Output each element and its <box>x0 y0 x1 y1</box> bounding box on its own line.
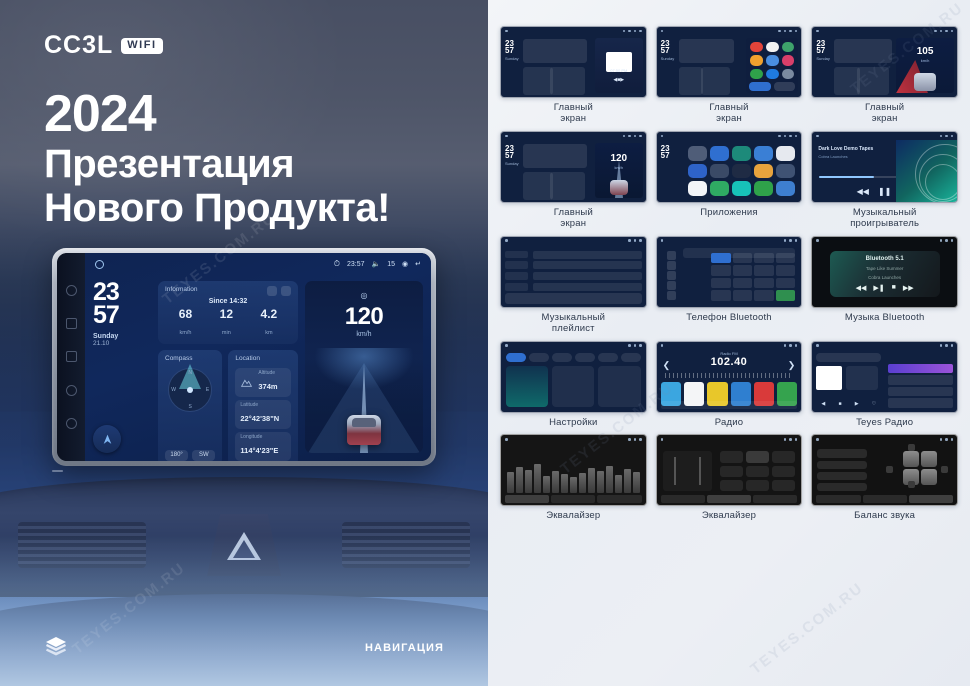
altitude-value: 374m <box>258 382 277 391</box>
compass-label-w: W <box>171 387 176 393</box>
speed-value: 120 <box>305 303 423 331</box>
gallery-item[interactable]: Radio FM 102.40 ❮ ❯ Радио <box>656 341 803 429</box>
gallery-caption: Настройки <box>549 418 597 429</box>
compass-dial: N S W E <box>168 368 212 412</box>
gallery-caption: Главныйэкран <box>554 208 593 230</box>
clock-widget: 23 57 Sunday 21.10 <box>93 281 151 453</box>
stat-value: 68 <box>179 308 192 321</box>
gallery-item[interactable]: Телефон Bluetooth <box>656 236 803 335</box>
bt-subtitle: Tape Like Summer <box>866 266 904 271</box>
mountain-icon <box>240 376 253 389</box>
gallery-caption: Баланс звука <box>854 511 915 522</box>
information-card[interactable]: Information Since 14:32 68 <box>158 281 298 344</box>
navigation-arrow-icon <box>101 433 114 446</box>
apps-grid[interactable] <box>686 144 797 198</box>
stat-unit: km <box>265 330 272 336</box>
layers-icon[interactable] <box>44 635 68 662</box>
equalizer-sliders[interactable] <box>507 449 640 493</box>
clock-date: 21.10 <box>93 340 151 347</box>
headline-line-2: Нового Продукта! <box>44 186 390 230</box>
location-card[interactable]: Location Altitude 374m <box>228 350 298 461</box>
gallery-caption: Teyes Радио <box>856 418 913 429</box>
headline-line-1: Презентация <box>44 142 390 186</box>
compass-label-s: S <box>189 404 192 410</box>
thumbnail-bluetooth-phone[interactable] <box>656 236 803 308</box>
speedometer-icon: ◎ <box>361 291 368 300</box>
compass-title: Compass <box>165 355 215 362</box>
refresh-icon[interactable] <box>281 286 291 296</box>
thumbnail-settings[interactable] <box>500 341 647 413</box>
stat-unit: km/h <box>179 330 191 336</box>
player-track-title: Dark Love Demo Tapes <box>818 146 890 152</box>
gallery-item[interactable]: Баланс звука <box>811 434 958 522</box>
stat-distance: 4.2 km <box>261 308 278 339</box>
compass-heading-cone <box>179 364 201 389</box>
compass-label-n: N <box>188 370 192 376</box>
product-logo: CC3L WIFI <box>44 31 163 60</box>
speed-unit: km/h <box>305 331 423 338</box>
head-unit-screen[interactable]: ⏱ 23:57 🔈 15 ◉ ↵ 23 57 Sunday <box>85 253 431 461</box>
gallery-caption: Главныйэкран <box>554 103 593 125</box>
compass-heading-value: 180° <box>165 450 188 461</box>
location-title: Location <box>235 355 291 362</box>
gallery-caption: Эквалайзер <box>546 511 600 522</box>
gallery-item[interactable]: Dark Love Demo Tapes Cobra Launches ◀◀❚❚… <box>811 131 958 230</box>
thumbnail-radio[interactable]: Radio FM 102.40 ❮ ❯ <box>656 341 803 413</box>
thumbnail-home-speed[interactable]: 2357Sunday 120 km/h <box>500 131 647 203</box>
location-longitude-row: Longitude 114°4'23"E <box>235 432 291 461</box>
thumbnail-home-apps[interactable]: 2357Sunday <box>656 26 803 98</box>
headline-year: 2024 <box>44 88 390 142</box>
gallery-grid: 2357Sunday 07:50 PM ◀■▶ Главныйэкран 235… <box>500 26 958 522</box>
radio-next-icon[interactable]: ❯ <box>788 360 796 371</box>
thumb-speed-value: 105 <box>896 46 954 57</box>
trip-stats: 68 km/h 12 min 4.2 km <box>165 308 291 339</box>
gallery-caption: Главныйэкран <box>865 103 904 125</box>
home-button-icon[interactable] <box>66 318 77 329</box>
thumbnail-apps[interactable]: 2357 <box>656 131 803 203</box>
latitude-label: Latitude <box>240 402 286 408</box>
bt-title: Bluetooth 5.1 <box>866 256 904 262</box>
camera-icon[interactable]: ◉ <box>402 260 408 268</box>
gallery-item[interactable]: 2357Sunday 07:50 PM ◀■▶ Главныйэкран <box>500 26 647 125</box>
compass-direction-value: SW <box>192 450 215 461</box>
road-graphic <box>305 348 423 453</box>
device-side-buttons[interactable] <box>57 253 85 461</box>
headline-block: 2024 Презентация Нового Продукта! <box>44 88 390 230</box>
compass-label-e: E <box>206 387 209 393</box>
compass-center-dot <box>187 387 193 393</box>
gallery-caption: Приложения <box>700 208 758 219</box>
compass-card[interactable]: Compass N S W E <box>158 350 222 461</box>
volume-down-button-icon[interactable] <box>66 385 77 396</box>
status-bar: ⏱ 23:57 🔈 15 ◉ ↵ <box>85 253 431 275</box>
home-icon[interactable] <box>95 260 104 269</box>
clock-minutes: 57 <box>93 304 151 327</box>
logo-wifi-badge: WIFI <box>121 38 162 54</box>
music-visualizer <box>896 140 957 202</box>
thumbnail-home-drive[interactable]: 2357Sunday 105 km/h <box>811 26 958 98</box>
thumbnail-bluetooth-music[interactable]: Bluetooth 5.1 Tape Like Summer Cobra Lau… <box>811 236 958 308</box>
longitude-label: Longitude <box>240 434 286 440</box>
gallery-caption: Радио <box>715 418 743 429</box>
thumbnail-equalizer-bars[interactable] <box>500 434 647 506</box>
wifi-icon: ⏱ <box>334 259 340 269</box>
thumbnail-teyes-radio[interactable]: ◀■▶♡ <box>811 341 958 413</box>
balance-pad[interactable] <box>903 451 937 485</box>
altitude-label: Altitude <box>258 370 277 376</box>
gallery-caption: Музыкальныйплейлист <box>541 313 605 335</box>
driving-view-card[interactable]: ◎ 120 km/h <box>305 281 423 453</box>
power-button-icon[interactable] <box>66 285 77 296</box>
stat-value: 4.2 <box>261 308 278 321</box>
gallery-item[interactable]: Эквалайзер <box>656 434 803 522</box>
status-time: 23:57 <box>347 261 365 268</box>
stat-value: 12 <box>220 308 233 321</box>
trip-since-label: Since 14:32 <box>165 298 291 305</box>
car-icon <box>347 415 381 445</box>
gallery-item[interactable]: 2357 Приложения <box>656 131 803 230</box>
stat-avg-speed: 68 km/h <box>179 308 192 339</box>
clock-day: Sunday <box>93 333 151 340</box>
logo-model-text: CC3L <box>44 31 113 60</box>
volume-level: 15 <box>387 261 395 268</box>
head-unit-device: ⏱ 23:57 🔈 15 ◉ ↵ 23 57 Sunday <box>52 248 436 466</box>
thumbnail-sound-balance[interactable] <box>811 434 958 506</box>
thumbnail-music-player[interactable]: Dark Love Demo Tapes Cobra Launches ◀◀❚❚… <box>811 131 958 203</box>
stat-unit: min <box>222 330 231 336</box>
longitude-value: 114°4'23"E <box>240 446 278 455</box>
location-altitude-row: Altitude 374m <box>235 368 291 397</box>
information-title: Information <box>165 286 198 293</box>
gallery-item[interactable]: Музыкальныйплейлист <box>500 236 647 335</box>
navigation-fab-button[interactable] <box>93 425 121 453</box>
thumbnail-music-playlist[interactable] <box>500 236 647 308</box>
bt-subtitle-2: Cobra Launches <box>868 275 901 280</box>
gallery-item[interactable]: Bluetooth 5.1 Tape Like Summer Cobra Lau… <box>811 236 958 335</box>
presentation-slide: CC3L WIFI 2024 Презентация Нового Продук… <box>0 0 970 686</box>
gallery-caption: Музыка Bluetooth <box>845 313 925 324</box>
radio-prev-icon[interactable]: ❮ <box>663 360 671 371</box>
gallery-caption: Главныйэкран <box>709 103 748 125</box>
gallery-caption: Телефон Bluetooth <box>686 313 772 324</box>
thumbnail-equalizer-presets[interactable] <box>656 434 803 506</box>
gallery-item[interactable]: 2357Sunday Главныйэкран <box>656 26 803 125</box>
settings-gear-icon[interactable] <box>267 286 277 296</box>
gallery-item[interactable]: Настройки <box>500 341 647 429</box>
gallery-item[interactable]: ◀■▶♡ Teyes Радио <box>811 341 958 429</box>
latitude-value: 22°42'38"N <box>240 414 279 423</box>
location-latitude-row: Latitude 22°42'38"N <box>235 400 291 429</box>
gallery-item[interactable]: 2357Sunday 120 km/h Главныйэкран <box>500 131 647 230</box>
volume-up-button-icon[interactable] <box>66 418 77 429</box>
screenshot-gallery-panel: 2357Sunday 07:50 PM ◀■▶ Главныйэкран 235… <box>488 0 970 686</box>
thumbnail-home-media[interactable]: 2357Sunday 07:50 PM ◀■▶ <box>500 26 647 98</box>
radio-tuner-scale[interactable] <box>665 373 794 378</box>
gallery-caption: Музыкальныйпроигрыватель <box>850 208 919 230</box>
gallery-item[interactable]: 2357Sunday 105 km/h Главныйэкран <box>811 26 958 125</box>
left-hero-panel: CC3L WIFI 2024 Презентация Нового Продук… <box>0 0 488 686</box>
dialpad[interactable] <box>711 253 795 301</box>
left-bottom-bar: НАВИГАЦИЯ <box>0 622 488 686</box>
stat-duration: 12 min <box>220 308 233 339</box>
volume-icon: 🔈 <box>372 260 381 268</box>
back-button-icon[interactable] <box>66 351 77 362</box>
gallery-caption: Эквалайзер <box>702 511 756 522</box>
radio-frequency: 102.40 <box>657 356 802 368</box>
back-arrow-icon[interactable]: ↵ <box>415 260 421 268</box>
watermark-text: TEYES.COM.RU <box>747 579 866 677</box>
gallery-item[interactable]: Эквалайзер <box>500 434 647 522</box>
navigation-label: НАВИГАЦИЯ <box>365 642 444 654</box>
